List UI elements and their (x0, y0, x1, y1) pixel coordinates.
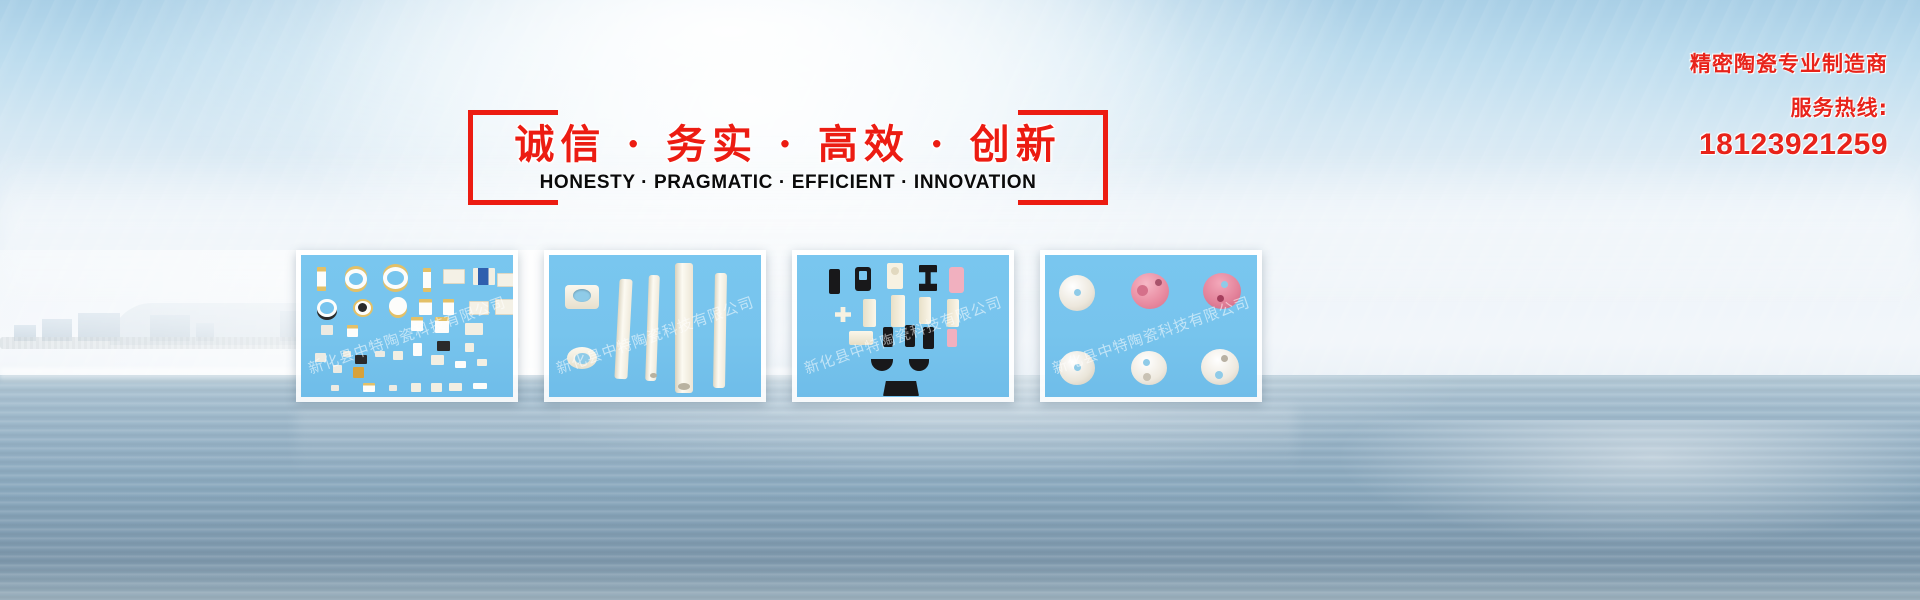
slogan-english: HONESTY · PRAGMATIC · EFFICIENT · INNOVA… (468, 172, 1108, 194)
hotline-phone-number[interactable]: 18123921259 (1568, 128, 1888, 162)
product-photo-ceramic-discs-and-caps: 新化县中特陶瓷科技有限公司 (1045, 255, 1257, 397)
product-panel[interactable]: 新化县中特陶瓷科技有限公司 (792, 250, 1014, 402)
company-tagline: 精密陶瓷专业制造商 (1568, 48, 1888, 78)
slogan-chinese: 诚信 · 务实 · 高效 · 创新 (468, 112, 1108, 170)
gallery-reflection (296, 406, 1296, 476)
promotional-banner: 诚信 · 务实 · 高效 · 创新 HONESTY · PRAGMATIC · … (0, 0, 1920, 600)
water-reflection-highlight-right (1250, 420, 1920, 600)
hotline-label: 服务热线: (1568, 92, 1888, 122)
contact-block: 精密陶瓷专业制造商 服务热线: 18123921259 (1568, 48, 1888, 162)
slogan-block: 诚信 · 务实 · 高效 · 创新 HONESTY · PRAGMATIC · … (468, 110, 1108, 210)
product-panel[interactable]: 新化县中特陶瓷科技有限公司 (1040, 250, 1262, 402)
product-photo-ceramic-tubes-and-rings: 新化县中特陶瓷科技有限公司 (549, 255, 761, 397)
product-panel[interactable]: 新化县中特陶瓷科技有限公司 (296, 250, 518, 402)
product-photo-ceramic-structural-parts: 新化县中特陶瓷科技有限公司 (797, 255, 1009, 397)
product-gallery: 新化县中特陶瓷科技有限公司 新化县中特陶瓷科技有限公司 (296, 250, 1262, 402)
product-photo-smd-ceramic-packages: 新化县中特陶瓷科技有限公司 (301, 255, 513, 397)
product-panel[interactable]: 新化县中特陶瓷科技有限公司 (544, 250, 766, 402)
